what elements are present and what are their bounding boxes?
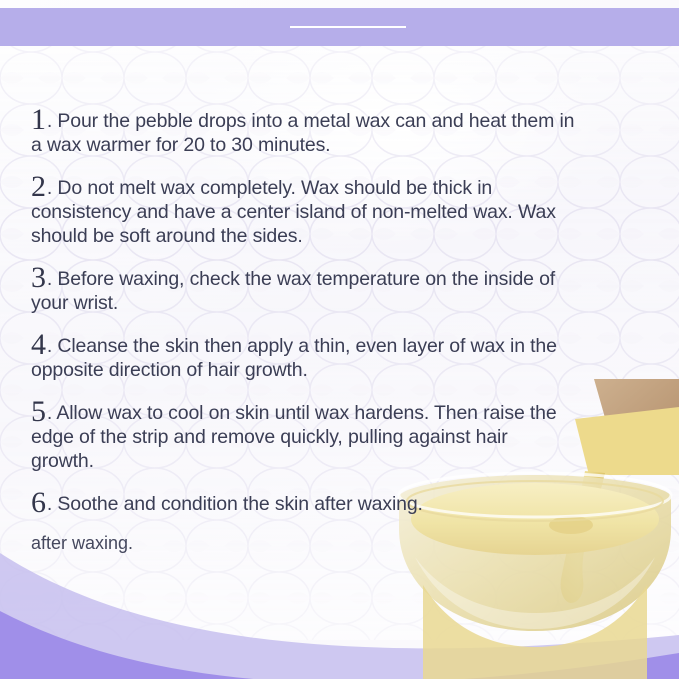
horizontal-rule-icon xyxy=(290,26,406,28)
step-number: 1 xyxy=(31,103,46,136)
list-item: 6. Soothe and condition the skin after w… xyxy=(31,491,591,516)
instruction-steps-list: 1. Pour the pebble drops into a metal wa… xyxy=(31,108,607,554)
step-text: Cleanse the skin then apply a thin, even… xyxy=(31,335,557,381)
step-separator: . xyxy=(47,110,52,132)
trailing-note: after waxing. xyxy=(31,532,607,554)
how-to-use-panel: HOW TO USE xyxy=(0,0,679,679)
step-text: Allow wax to cool on skin until wax hard… xyxy=(31,402,557,472)
step-text: Before waxing, check the wax temperature… xyxy=(31,268,555,314)
list-item: 2. Do not melt wax completely. Wax shoul… xyxy=(31,175,597,248)
step-number: 6 xyxy=(31,486,46,519)
step-separator: . xyxy=(47,493,52,515)
step-separator: . xyxy=(47,177,52,199)
list-item: 5. Allow wax to cool on skin until wax h… xyxy=(31,400,571,473)
step-number: 2 xyxy=(31,170,46,203)
step-number: 3 xyxy=(31,261,46,294)
step-separator: . xyxy=(47,402,52,424)
step-text: Soothe and condition the skin after waxi… xyxy=(57,493,422,515)
step-text: Pour the pebble drops into a metal wax c… xyxy=(31,110,574,156)
list-item: 1. Pour the pebble drops into a metal wa… xyxy=(31,108,576,157)
step-separator: . xyxy=(47,268,52,290)
list-item: 4. Cleanse the skin then apply a thin, e… xyxy=(31,333,603,382)
step-separator: . xyxy=(47,335,52,357)
step-text: Do not melt wax completely. Wax should b… xyxy=(31,177,556,247)
list-item: 3. Before waxing, check the wax temperat… xyxy=(31,266,561,315)
step-number: 5 xyxy=(31,395,46,428)
step-number: 4 xyxy=(31,328,46,361)
